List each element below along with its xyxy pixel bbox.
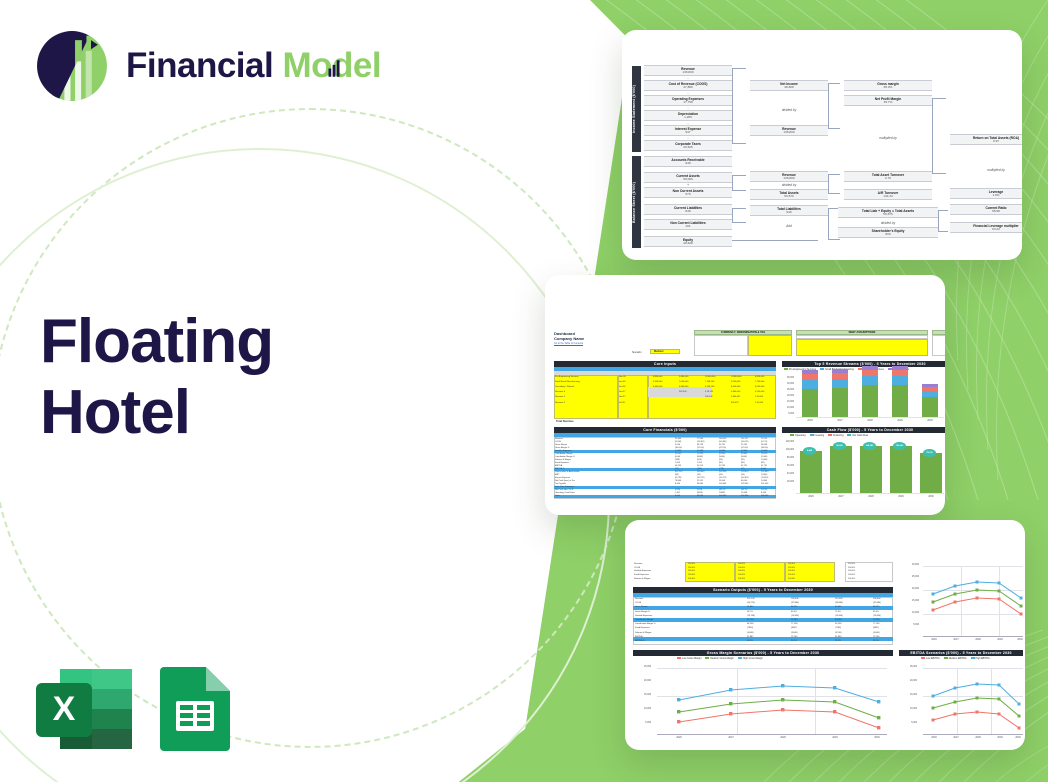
cell: Revenue 5 [555, 396, 565, 398]
cell: Gross Margin % [635, 611, 650, 613]
cell: (5000) [741, 456, 747, 458]
cell: 6,18,135 [705, 391, 713, 393]
cell: EBITDA [635, 636, 643, 638]
cell: Revenue 5 [555, 402, 565, 404]
cell: 142,480 [835, 598, 843, 600]
cell: 100,900 [741, 495, 748, 497]
cell: (47.0%) [719, 447, 726, 449]
panel-currency-labels [694, 335, 748, 356]
cell: (47,880) [873, 602, 881, 604]
scenario-analysis-sheet: Scenario Outputs ($'000) - 5 Years to De… [633, 542, 1017, 732]
cell: Jan-27 [619, 391, 625, 393]
cell: (3,840) [873, 632, 880, 634]
page-title: Floating Hotel [40, 306, 420, 449]
cell: Variable Expenses [635, 615, 652, 617]
cell: 58.7% [747, 611, 753, 613]
cell: 91,830 [835, 636, 841, 638]
cell: Revenue [634, 563, 642, 565]
operator-divided-by-2: divided by [750, 183, 828, 187]
cell: (3,840) [791, 632, 798, 634]
node-revenue-asset: Revenue 136,800 [750, 171, 828, 182]
cell: Salaries & Wages [555, 459, 571, 461]
cell: Fixed Expenses [635, 627, 650, 629]
cell: 46,209 [675, 465, 681, 467]
cell: (8,778) [675, 477, 681, 479]
cell: 58,048 [761, 444, 767, 446]
cell: 6,050,000 [755, 386, 764, 388]
cell: (10,381) [741, 477, 748, 479]
cell: (46,73) [719, 489, 725, 491]
cell: 48,728 [697, 444, 703, 446]
cell: 1,95,000 [755, 396, 763, 398]
svg-text:X: X [53, 690, 76, 728]
cell: 6,050,000 [731, 386, 740, 388]
cell: 1,200 [697, 462, 702, 464]
cell: 1,200 [675, 462, 680, 464]
node-current-ratio: Current Ratio 58.98 [950, 204, 1022, 215]
node-current-liabilities: Current Liabilities 848 [644, 204, 732, 215]
cell: 95,199 [741, 444, 747, 446]
cell: 100.0% [738, 570, 745, 572]
panel-currency-values[interactable] [748, 335, 792, 356]
cell: 52,299 [719, 465, 725, 467]
cell: 100.0% [688, 574, 695, 576]
operator-multiplied-by: multiplied by [844, 136, 932, 140]
cell: (500) [697, 459, 702, 461]
cell: 8,650,000 [755, 376, 764, 378]
cell: 75,760 [791, 636, 797, 638]
cell: 40.1% [747, 640, 753, 642]
cell: (44) [697, 474, 701, 476]
cell: (3,080) [741, 450, 747, 452]
cell: (2,000) [761, 456, 767, 458]
cell: (47.0%) [741, 447, 748, 449]
cell: Interest Expense [555, 477, 570, 479]
node-equity: Equity 49,628 [644, 236, 732, 247]
cell: (44) [741, 474, 745, 476]
brand-lockup: Financial Model [34, 28, 381, 104]
cell: Salaries & Wages [634, 578, 650, 580]
cell: (27) [675, 468, 679, 470]
cell: Small Batch Manufacturing [555, 381, 580, 383]
cell: (80) [741, 462, 745, 464]
cell: (1,402) [675, 450, 681, 452]
cell: Pre-Engineering Services [555, 376, 579, 378]
node-interest-expense: Interest Expense 537 [644, 125, 732, 136]
cell: 65.0% [791, 611, 797, 613]
cell: EBITDA % [635, 640, 645, 642]
cell: 101,000 [761, 483, 768, 485]
cell: 100.0% [788, 578, 795, 580]
cell: 67,710 [747, 619, 753, 621]
cell: Gross Margin [555, 444, 567, 446]
cell: Jul-28 [619, 402, 625, 404]
cell: 100.0% [738, 574, 745, 576]
cell: 134,050 [719, 438, 726, 440]
node-net-income: Net Income 48,828 [750, 80, 828, 91]
cell: (88) [675, 474, 679, 476]
cell: 62,731 [741, 465, 747, 467]
cell: (65,792) [675, 471, 682, 473]
cell: 10,800,000 [705, 376, 715, 378]
cell: 8,444 [675, 483, 680, 485]
node-opex: Operating Expenses 17,758 [644, 95, 732, 106]
operator-divided-by: divided by [750, 108, 828, 112]
cell: 13,004 [719, 480, 725, 482]
group-label-income-statement: Income Statement ($'000) [632, 66, 641, 152]
cell: Jan-28 [619, 381, 625, 383]
cell: Revenue 4 [555, 391, 565, 393]
cell: Revenue [635, 598, 643, 600]
cell: EBIT [555, 474, 559, 476]
brand-word-model: Model [282, 46, 381, 86]
cell: 100.0% [788, 574, 795, 576]
node-financial-leverage-multiplier: Financial Leverage multiplier 63.22 [950, 222, 1022, 233]
cell: 93,198 [835, 623, 841, 625]
cell: (6,85) [675, 489, 680, 491]
cell: Depreciation & Amortisation [555, 471, 580, 473]
cell: 1,0800 [761, 480, 767, 482]
cell: 100.0% [848, 574, 855, 576]
cell: (3,006) [719, 450, 725, 452]
cell: 21,592 [697, 480, 703, 482]
cell: (55,05) [761, 489, 767, 491]
chart-title-ebitda-scenarios: EBITDA Scenarios ($'000) - 5 Years to De… [899, 650, 1023, 656]
cell: 5,550,000 [755, 391, 764, 393]
cell: (0.00) [675, 456, 680, 458]
slide-canvas: Financial Model Floating Hotel [0, 0, 1048, 782]
panel-debt-rows[interactable] [796, 339, 928, 356]
cell: 100.0% [848, 578, 855, 580]
cell: 88,920 [791, 606, 797, 608]
cell: 9,080,000 [679, 376, 688, 378]
title-line-1: Floating [40, 306, 420, 377]
cell: 80,130 [835, 619, 841, 621]
cell: (0.00) [761, 468, 766, 470]
cell: 100.0% [788, 567, 795, 569]
cell: (50,280) [719, 441, 726, 443]
node-corporate-taxes: Corporate Taxes 20,526 [644, 140, 732, 151]
cell: 68,440 [697, 483, 703, 485]
cell: 8,440 [761, 492, 766, 494]
cell: (700) [697, 468, 702, 470]
cell: (30.0%) [675, 447, 682, 449]
node-accounts-receivable: Accounts Receivable 948 [644, 156, 732, 167]
cell: 8,850,000 [653, 376, 662, 378]
cell: 67.0% [835, 640, 841, 642]
cell: Contribution Margin [555, 453, 572, 455]
cell: 5,350,000 [653, 381, 662, 383]
cell: Salaries & Wages [635, 632, 651, 634]
cell: (53,300) [761, 471, 768, 473]
cell: Consulting / Tailored [555, 386, 574, 388]
cell: (13,860) [835, 615, 843, 617]
cell: 78,800 [675, 480, 681, 482]
cell: COGS [635, 602, 641, 604]
group-label-balance-sheet: Balance Sheet ($'000) [632, 156, 641, 248]
cell: 41,791 [761, 465, 767, 467]
cell: 100.0% [788, 570, 795, 572]
cell: 100.0% [788, 563, 795, 565]
chart-legend-cash-flow: Operating Investing Financing Net Cash F… [790, 434, 868, 437]
cell: EBITDA [555, 465, 562, 467]
node-roa: Return on Total Assets (ROA) 0.97 [950, 134, 1022, 145]
cell: 73,210 [761, 438, 767, 440]
node-depreciation: Depreciation 1,265 [644, 110, 732, 121]
cell: (36.0%) [761, 447, 768, 449]
cell: 100.0% [738, 563, 745, 565]
cell: (85) [761, 462, 765, 464]
cell: (8,060) [741, 453, 747, 455]
cell: (5000) [719, 456, 725, 458]
cell: 100.0% [848, 563, 855, 565]
screenshot-card-dashboard[interactable]: Dashboard Company Name Go to the Table o… [545, 275, 945, 515]
cell: 8,444 [675, 495, 680, 497]
cell: (8000) [697, 456, 703, 458]
cell: (8037) [873, 627, 879, 629]
cell: 136,800 [873, 598, 881, 600]
cell: 5,046 [675, 444, 680, 446]
node-non-current-assets: Non Current Assets 570 [644, 187, 732, 198]
cell: 100.0% [738, 567, 745, 569]
scenario-value: Medium [654, 350, 663, 353]
file-format-icons: X [34, 663, 234, 760]
cell: 103,900 [741, 483, 748, 485]
cell: 52.1% [873, 640, 879, 642]
cell: (4,520) [675, 453, 681, 455]
cell: Fixed Expenses [634, 574, 649, 576]
cell: 48,198 [747, 623, 753, 625]
cell: Contribution Margin % [555, 456, 575, 458]
cell: (13,138) [747, 615, 755, 617]
circle-bar-chart-logo [34, 28, 110, 104]
cell: 100.0% [688, 567, 695, 569]
cell: (13,860) [873, 615, 881, 617]
cell: (14,737) [719, 477, 726, 479]
node-total-liab-equity: Total Liab + Equity = Total Assets 50,57… [838, 207, 938, 218]
cell: 75,760 [873, 619, 879, 621]
cell: Variable Expenses [634, 570, 651, 572]
cell: 131,130 [747, 598, 755, 600]
google-sheets-icon[interactable] [156, 663, 234, 760]
cell: (80) [719, 462, 723, 464]
node-non-current-liabilities: Non Current Liabilities 101 [644, 219, 732, 230]
cell: (1,800) [761, 474, 767, 476]
node-total-asset-turnover: Total Asset Turnover 2.70 [844, 171, 932, 182]
cell: Cash Flow Summary [555, 486, 574, 488]
cell: Contribution Margin [635, 619, 653, 621]
cell: 65.0% [873, 611, 879, 613]
cell: (98) [719, 459, 723, 461]
cell: 43,000 [741, 480, 747, 482]
cell: (7800) [747, 627, 753, 629]
cell: (26,361) [697, 441, 704, 443]
cell: 77,198 [873, 623, 879, 625]
cell: Jan-27 [619, 396, 625, 398]
cell: (4,840) [747, 632, 754, 634]
node-current-assets: Current Assets 50,006 [644, 172, 732, 183]
brand-word-financial: Financial [126, 46, 273, 85]
panel-wc-labels [932, 335, 945, 356]
node-gross-margin: Gross margin 65.0% [844, 80, 932, 91]
node-leverage: Leverage 1.9% [950, 188, 1022, 199]
node-shareholders-equity: Shareholder's Equity 800 [838, 227, 938, 238]
cell: (388) [675, 459, 680, 461]
cell: 100.0% [848, 570, 855, 572]
cell: 13,608 [741, 492, 747, 494]
cell: 68,000 [697, 495, 703, 497]
cell: Variable Expenses [555, 450, 572, 452]
cell: 6,850,000 [653, 386, 662, 388]
financial-dashboard: Dashboard Company Name Go to the Table o… [550, 305, 940, 497]
cell: (8,509) [719, 453, 725, 455]
cell: 75,760 [873, 636, 879, 638]
cell: 5,800,000 [731, 391, 740, 393]
cell: 71.4% [835, 611, 841, 613]
cell: 108,190 [761, 495, 768, 497]
toc-link[interactable]: Go to the Table of Contents [554, 342, 583, 345]
cell: 75,760 [791, 619, 797, 621]
cell: COGS [634, 567, 640, 569]
cell: (50,000) [697, 471, 704, 473]
cell: (46,75) [741, 489, 747, 491]
cell: 1,47,000 [755, 402, 763, 404]
cell: (54,298) [719, 471, 726, 473]
cell: (7183) [835, 627, 841, 629]
cell: 7,750,000 [755, 381, 764, 383]
node-total-assets: Total Assets 50,576 [750, 189, 828, 200]
cell: Nov-26 [619, 376, 626, 378]
cell: (9,271) [761, 441, 767, 443]
cell: 76,860 [747, 606, 753, 608]
node-total-liabilities: Total Liabilities 949 [750, 205, 828, 216]
cell: 10,800,000 [731, 376, 741, 378]
node-revenue-denominator: Revenue 136,800 [750, 125, 828, 136]
cell: (3,18) [697, 489, 702, 491]
cell: 104,342 [719, 495, 726, 497]
cell: (1,060) [761, 459, 767, 461]
cell: (95) [741, 459, 745, 461]
brand-text: Financial Model [126, 46, 381, 86]
cell: Net Profit (loss) or Tax [555, 480, 575, 482]
cell: Tax Payable [555, 483, 566, 485]
cell: 100.0% [688, 563, 695, 565]
cell: 77,198 [791, 623, 797, 625]
operator-divided-by-3: divided by [844, 221, 932, 225]
cell: 10688 [719, 492, 725, 494]
cell: 100.0% [688, 570, 695, 572]
cell: 77,040 [697, 438, 703, 440]
cell: 6,080,000 [679, 386, 688, 388]
cell: 205,079 [731, 402, 739, 404]
cell: (49,880) [835, 602, 843, 604]
screenshot-card-scenarios[interactable]: Scenario Outputs ($'000) - 5 Years to De… [625, 520, 1025, 750]
cell: (3,130) [835, 632, 842, 634]
chart-legend-gross-margin: Low Gross Margin Medium Gross Margin Hig… [677, 657, 763, 660]
cell: (1,064) [761, 450, 767, 452]
cell: 100,444 [719, 483, 726, 485]
cell: 90,600 [835, 606, 841, 608]
cell: (13,860) [791, 615, 799, 617]
dashboard-subtitle: Company Name [554, 336, 584, 341]
cell: 41,019 [697, 465, 703, 467]
chart-title-cash-flow: Cash Flow ($'000) - 5 Years to December … [782, 427, 945, 433]
scenario-label: Scenario [632, 351, 641, 354]
dupont-analysis-diagram: Income Statement ($'000) Balance Sheet (… [632, 64, 1016, 246]
cell: Fixed Expenses [555, 462, 569, 464]
core-inputs-total-label: Total Revenue [556, 420, 574, 423]
title-line-2: Hotel [40, 377, 420, 448]
cell: Contribution Margin % [635, 623, 656, 625]
cell: 52,887 [747, 636, 753, 638]
chart-legend-ebitda: Low EBITDA Medium EBITDA High EBITDA [921, 657, 990, 660]
cell: (2,038) [697, 450, 703, 452]
cell: (3,095) [761, 453, 767, 455]
cell: Operating Cash Flows [555, 492, 575, 494]
cell: (51,087) [741, 471, 748, 473]
cell: 100.0% [688, 578, 695, 580]
node-cogs: Cost of Revenue (COGS) 47,880 [644, 80, 732, 91]
cell: (54,070) [741, 441, 748, 443]
cell: 7,050,000 [731, 381, 740, 383]
operator-multiplied-by-2: multiplied by [950, 168, 1022, 172]
cell: (8,344) [675, 441, 681, 443]
cell: 136,800 [791, 598, 799, 600]
cell: 6,138,100 [705, 386, 714, 388]
node-revenue: Revenue 136,800 [644, 65, 732, 76]
operator-add: Add [750, 224, 828, 228]
cell: (8037) [791, 627, 797, 629]
cell: 302,995 [679, 391, 687, 393]
cell: Gross Margin [635, 606, 647, 608]
node-ar-turnover: A/R Turnover 144.34 [844, 189, 932, 200]
cell: Jan-28 [619, 386, 625, 388]
cell: (47,880) [791, 602, 799, 604]
cell: (44) [719, 474, 723, 476]
cell: COGS [555, 441, 561, 443]
cell: 7,401 [675, 492, 680, 494]
cell: 100.0% [738, 578, 745, 580]
cell: Revenue [555, 438, 563, 440]
logo-accent-bars [328, 60, 339, 77]
cell: (1,299) [697, 453, 703, 455]
cell: Gross Margin % [555, 447, 569, 449]
microsoft-excel-icon[interactable]: X [34, 663, 134, 760]
node-net-profit-margin: Net Profit Margin 35.7% [844, 95, 932, 106]
cell: (278) [719, 468, 724, 470]
cell: (27) [741, 468, 745, 470]
cell: EBITDA % [555, 468, 564, 470]
cell: 7,050,000 [679, 381, 688, 383]
screenshot-card-dupont[interactable]: Income Statement ($'000) Balance Sheet (… [622, 30, 1022, 260]
cell: (8610) [697, 492, 703, 494]
cell: 88,920 [873, 606, 879, 608]
cell: 52.1% [791, 640, 797, 642]
cell: (11,801) [761, 477, 768, 479]
cell: 93,741 [719, 444, 725, 446]
cell: 1,800,031 [731, 396, 740, 398]
cell: Cash [555, 495, 560, 497]
cell: 31,800 [675, 438, 681, 440]
cell: 7,138,100 [705, 381, 714, 383]
cell: (37.0%) [697, 447, 704, 449]
chart-title-gross-margin-scenarios: Gross Margin Scenarios ($'000) - 5 Years… [633, 650, 893, 656]
cell: (15,212) [697, 477, 704, 479]
cell: 198,106 [705, 396, 713, 398]
cell: (45,270) [747, 602, 755, 604]
cell: 162,121 [741, 438, 748, 440]
cell: 100.0% [848, 567, 855, 569]
